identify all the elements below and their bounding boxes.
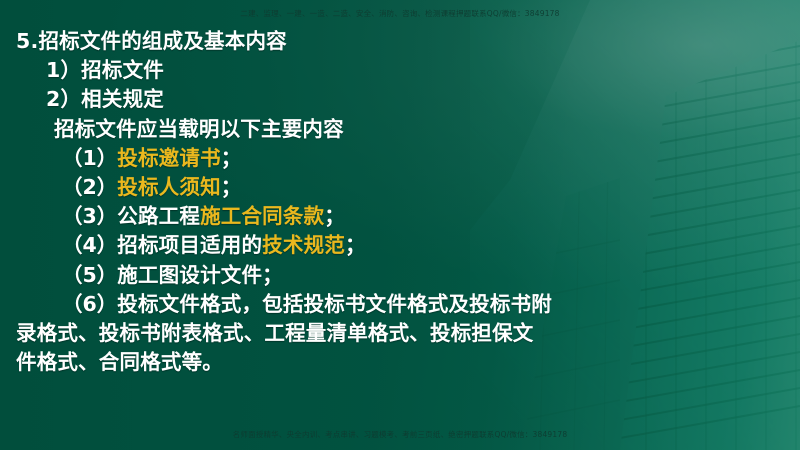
list-item-number: （5） <box>62 263 117 287</box>
list-item: （4）招标项目适用的技术规范； <box>0 231 800 260</box>
list-item-number: （3） <box>62 204 117 228</box>
list-item-number: （4） <box>62 233 117 257</box>
list-item-text-highlight: 投标邀请书 <box>117 146 221 170</box>
lead-in-text: 招标文件应当载明以下主要内容 <box>0 115 800 144</box>
bottom-promo-banner: 名师面授精华、央全内训、考点串讲、习题模考、考前三页纸、绝密押题联系QQ/微信：… <box>0 431 800 439</box>
top-promo-banner: 二建、监理、一建、一造、二造、安全、消防、咨询、检测课程押题联系QQ/微信：38… <box>0 10 800 18</box>
list-item-text-plain-before: 公路工程 <box>117 204 200 228</box>
list-item: （6）投标文件格式，包括投标书文件格式及投标书附 <box>0 290 800 319</box>
list-item-text-plain-after: ； <box>345 233 366 257</box>
list-item: （2）投标人须知； <box>0 173 800 202</box>
list-item-text-highlight: 施工合同条款 <box>200 204 324 228</box>
list-item-text-plain-before: 招标项目适用的 <box>117 233 262 257</box>
slide-title: 5.招标文件的组成及基本内容 <box>0 27 800 56</box>
wrapped-line: 件格式、合同格式等。 <box>0 348 800 377</box>
list-item-number: （1） <box>62 146 117 170</box>
wrapped-line: 录格式、投标书附表格式、工程量清单格式、投标担保文 <box>0 319 800 348</box>
list-item-text-highlight: 技术规范 <box>262 233 345 257</box>
list-item-text-plain-after: ； <box>221 146 242 170</box>
list-item-text-plain-before: 施工图设计文件； <box>117 263 283 287</box>
list-item: （3）公路工程施工合同条款； <box>0 202 800 231</box>
sub-item-1: 1）招标文件 <box>0 56 800 85</box>
list-item-number: （6） <box>62 292 117 316</box>
slide-body: 5.招标文件的组成及基本内容 1）招标文件 2）相关规定 招标文件应当载明以下主… <box>0 27 800 377</box>
list-item-text-plain-before: 投标文件格式，包括投标书文件格式及投标书附 <box>117 292 552 316</box>
list-item-text-highlight: 投标人须知 <box>117 175 221 199</box>
list-item-number: （2） <box>62 175 117 199</box>
list-item-text-plain-after: ； <box>324 204 345 228</box>
list-item: （5）施工图设计文件； <box>0 261 800 290</box>
sub-item-2: 2）相关规定 <box>0 85 800 114</box>
list-item: （1）投标邀请书； <box>0 144 800 173</box>
list-item-text-plain-after: ； <box>221 175 242 199</box>
presentation-slide: 二建、监理、一建、一造、二造、安全、消防、咨询、检测课程押题联系QQ/微信：38… <box>0 0 800 450</box>
